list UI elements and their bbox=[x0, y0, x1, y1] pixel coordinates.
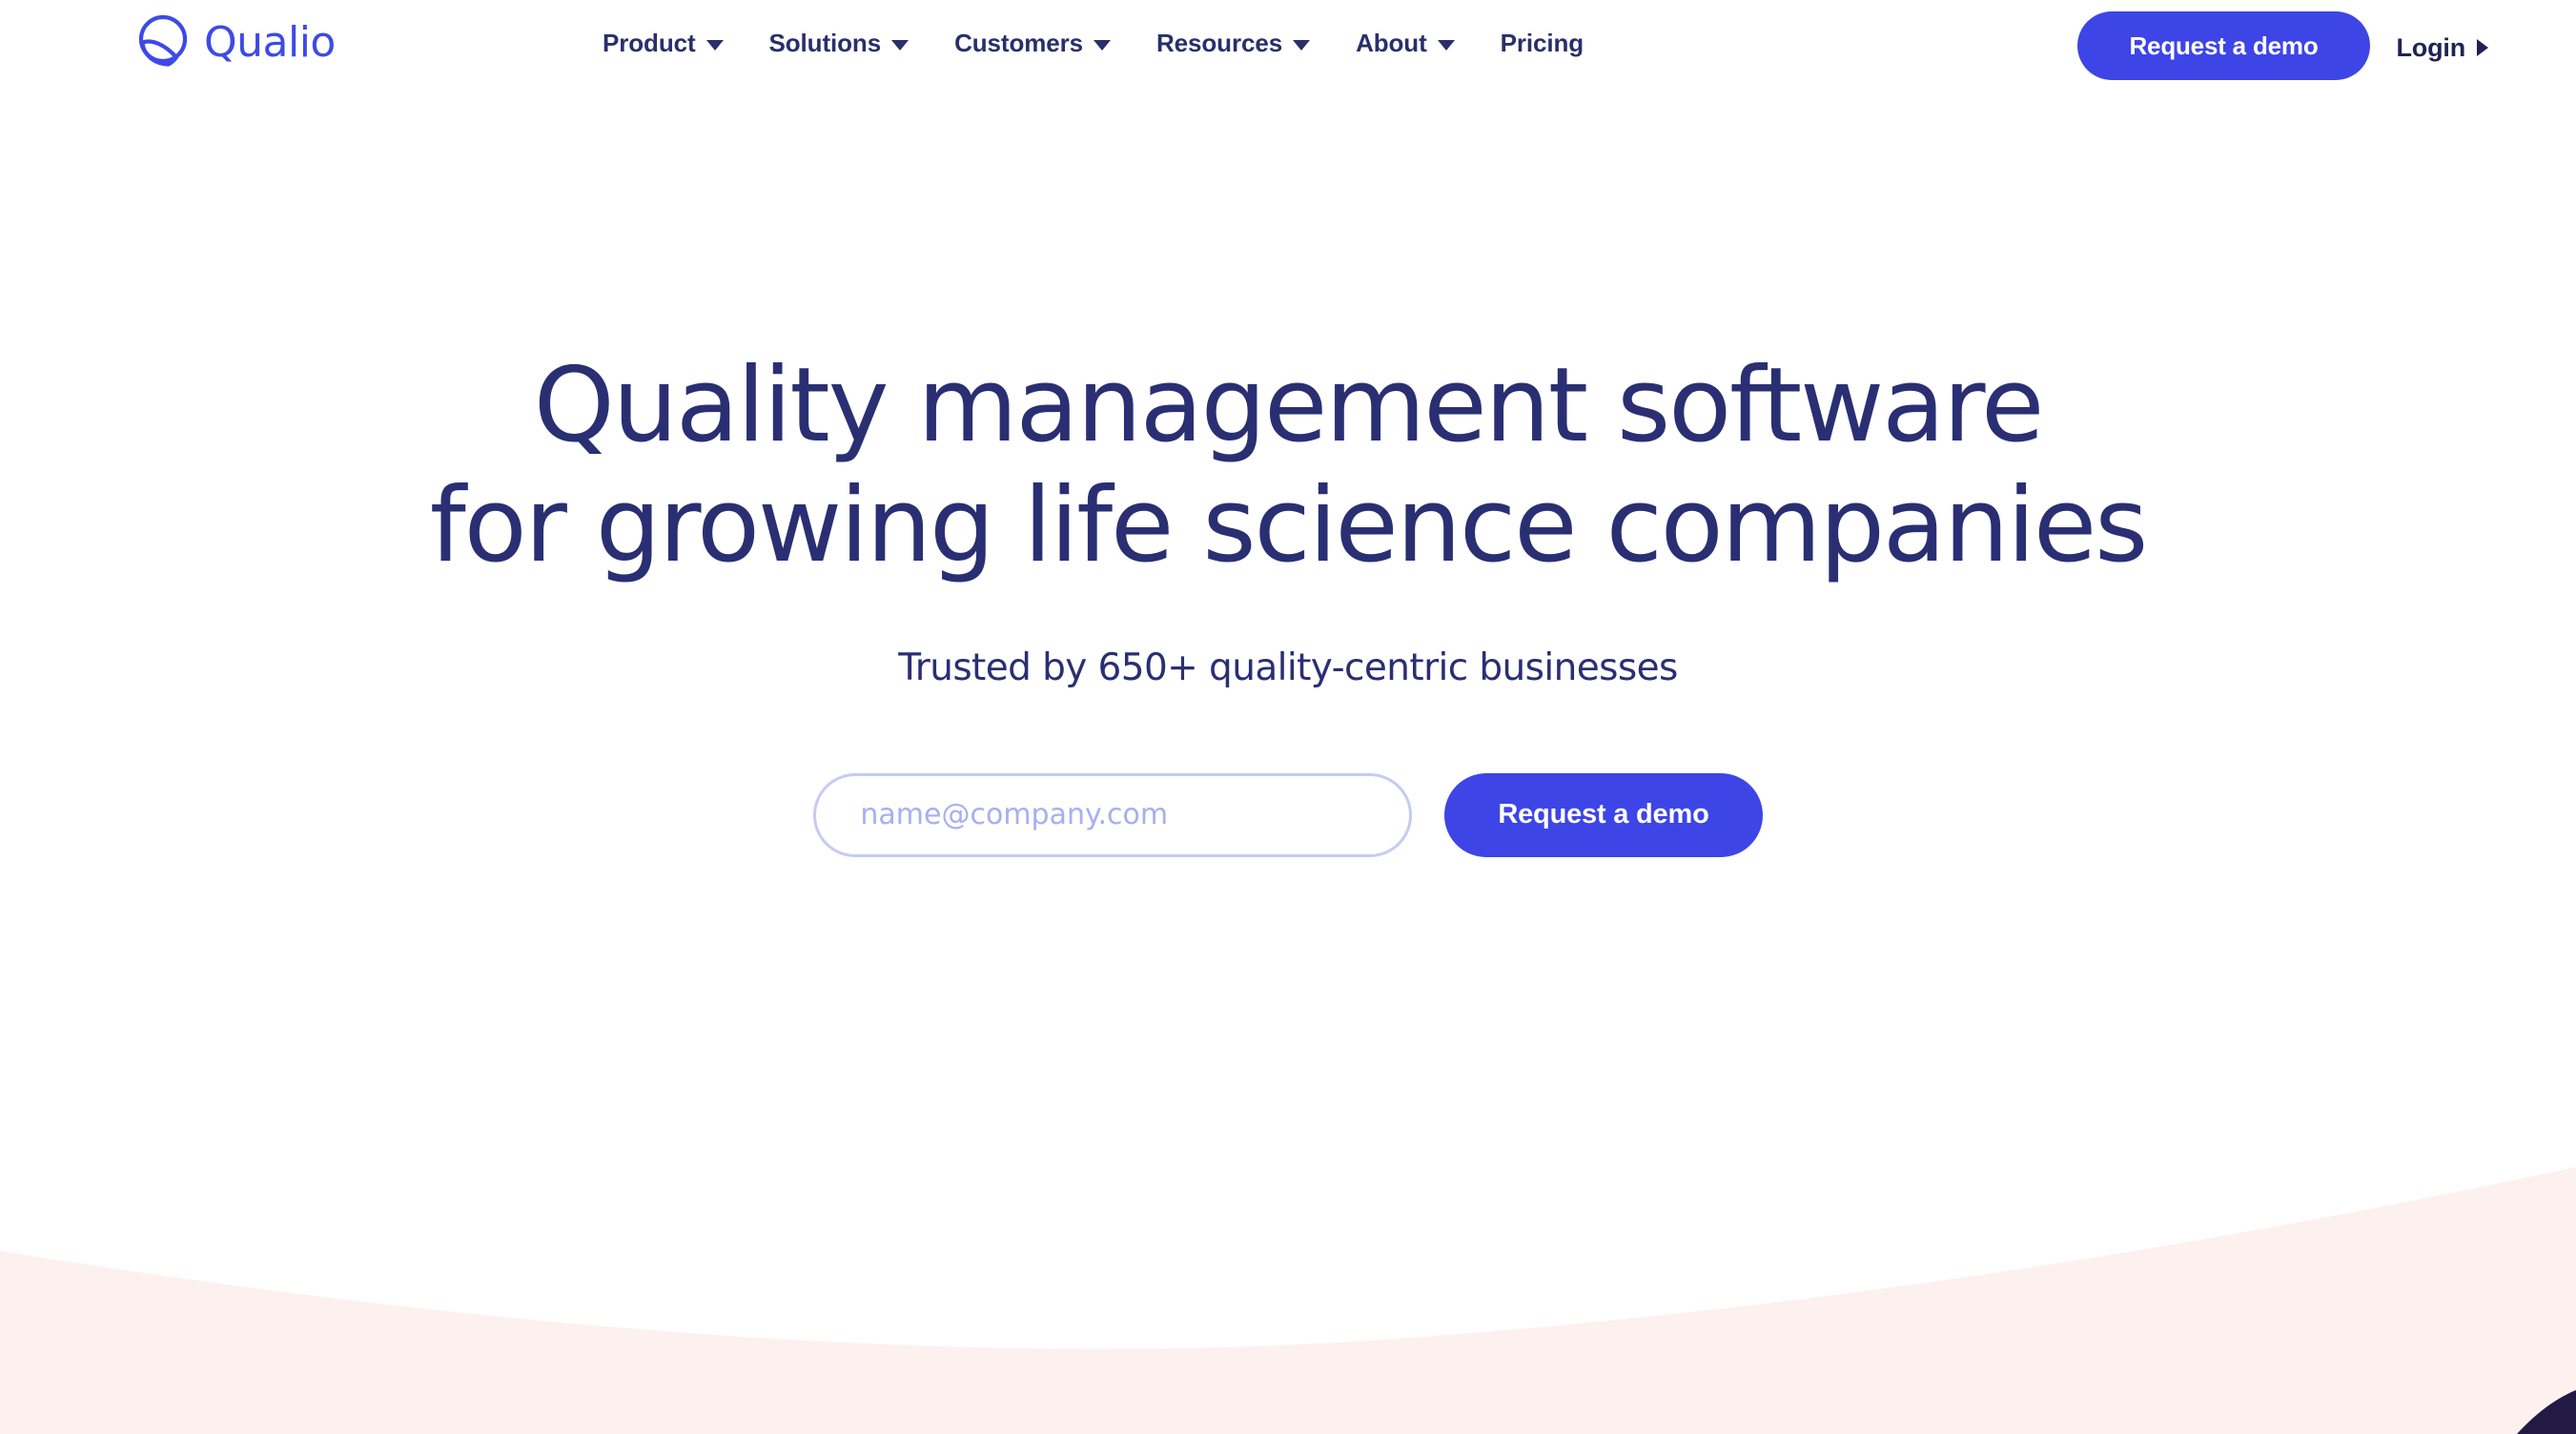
chevron-right-icon bbox=[2477, 39, 2488, 56]
wave-navy-corner-shape bbox=[2517, 1390, 2576, 1434]
hero-request-demo-button[interactable]: Request a demo bbox=[1444, 773, 1762, 857]
nav-item-customers[interactable]: Customers bbox=[931, 29, 1134, 58]
nav-item-label: Customers bbox=[954, 29, 1083, 58]
nav-item-label: Solutions bbox=[769, 29, 882, 58]
nav-item-label: Pricing bbox=[1501, 29, 1584, 58]
nav-item-pricing[interactable]: Pricing bbox=[1478, 29, 1606, 58]
chevron-down-icon bbox=[1094, 40, 1111, 51]
wave-pink-shape bbox=[0, 1167, 2576, 1434]
hero-subtitle: Trusted by 650+ quality-centric business… bbox=[898, 646, 1677, 689]
page-title: Quality management software for growing … bbox=[430, 346, 2146, 587]
chevron-down-icon bbox=[1293, 40, 1310, 51]
decorative-wave-section bbox=[0, 1110, 2576, 1434]
nav-item-solutions[interactable]: Solutions bbox=[746, 29, 932, 58]
nav-item-product[interactable]: Product bbox=[580, 29, 746, 58]
nav-item-label: Product bbox=[603, 29, 696, 58]
hero-demo-form: Request a demo bbox=[813, 773, 1762, 857]
header-actions: Request a demo Login bbox=[2077, 11, 2488, 80]
hero-title-line-1: Quality management software bbox=[430, 346, 2146, 466]
chevron-down-icon bbox=[706, 40, 724, 51]
email-input[interactable] bbox=[813, 773, 1412, 857]
chevron-down-icon bbox=[1438, 40, 1455, 51]
site-header: Qualio Product Solutions Customers Resou… bbox=[0, 0, 2576, 100]
qualio-wave-circle-logo-icon bbox=[132, 13, 191, 72]
chevron-down-icon bbox=[891, 40, 909, 51]
hero-section: Quality management software for growing … bbox=[0, 100, 2576, 857]
login-label: Login bbox=[2397, 33, 2465, 63]
login-link[interactable]: Login bbox=[2397, 30, 2488, 63]
main-navigation: Product Solutions Customers Resources Ab… bbox=[580, 29, 1606, 58]
header-request-demo-button[interactable]: Request a demo bbox=[2077, 11, 2369, 80]
nav-item-label: Resources bbox=[1156, 29, 1282, 58]
nav-item-label: About bbox=[1356, 29, 1427, 58]
brand-logo-link[interactable]: Qualio bbox=[132, 13, 336, 72]
nav-item-about[interactable]: About bbox=[1333, 29, 1478, 58]
page-root: Qualio Product Solutions Customers Resou… bbox=[0, 0, 2576, 1434]
hero-title-line-2: for growing life science companies bbox=[430, 466, 2146, 586]
brand-name: Qualio bbox=[204, 22, 336, 64]
nav-item-resources[interactable]: Resources bbox=[1134, 29, 1333, 58]
